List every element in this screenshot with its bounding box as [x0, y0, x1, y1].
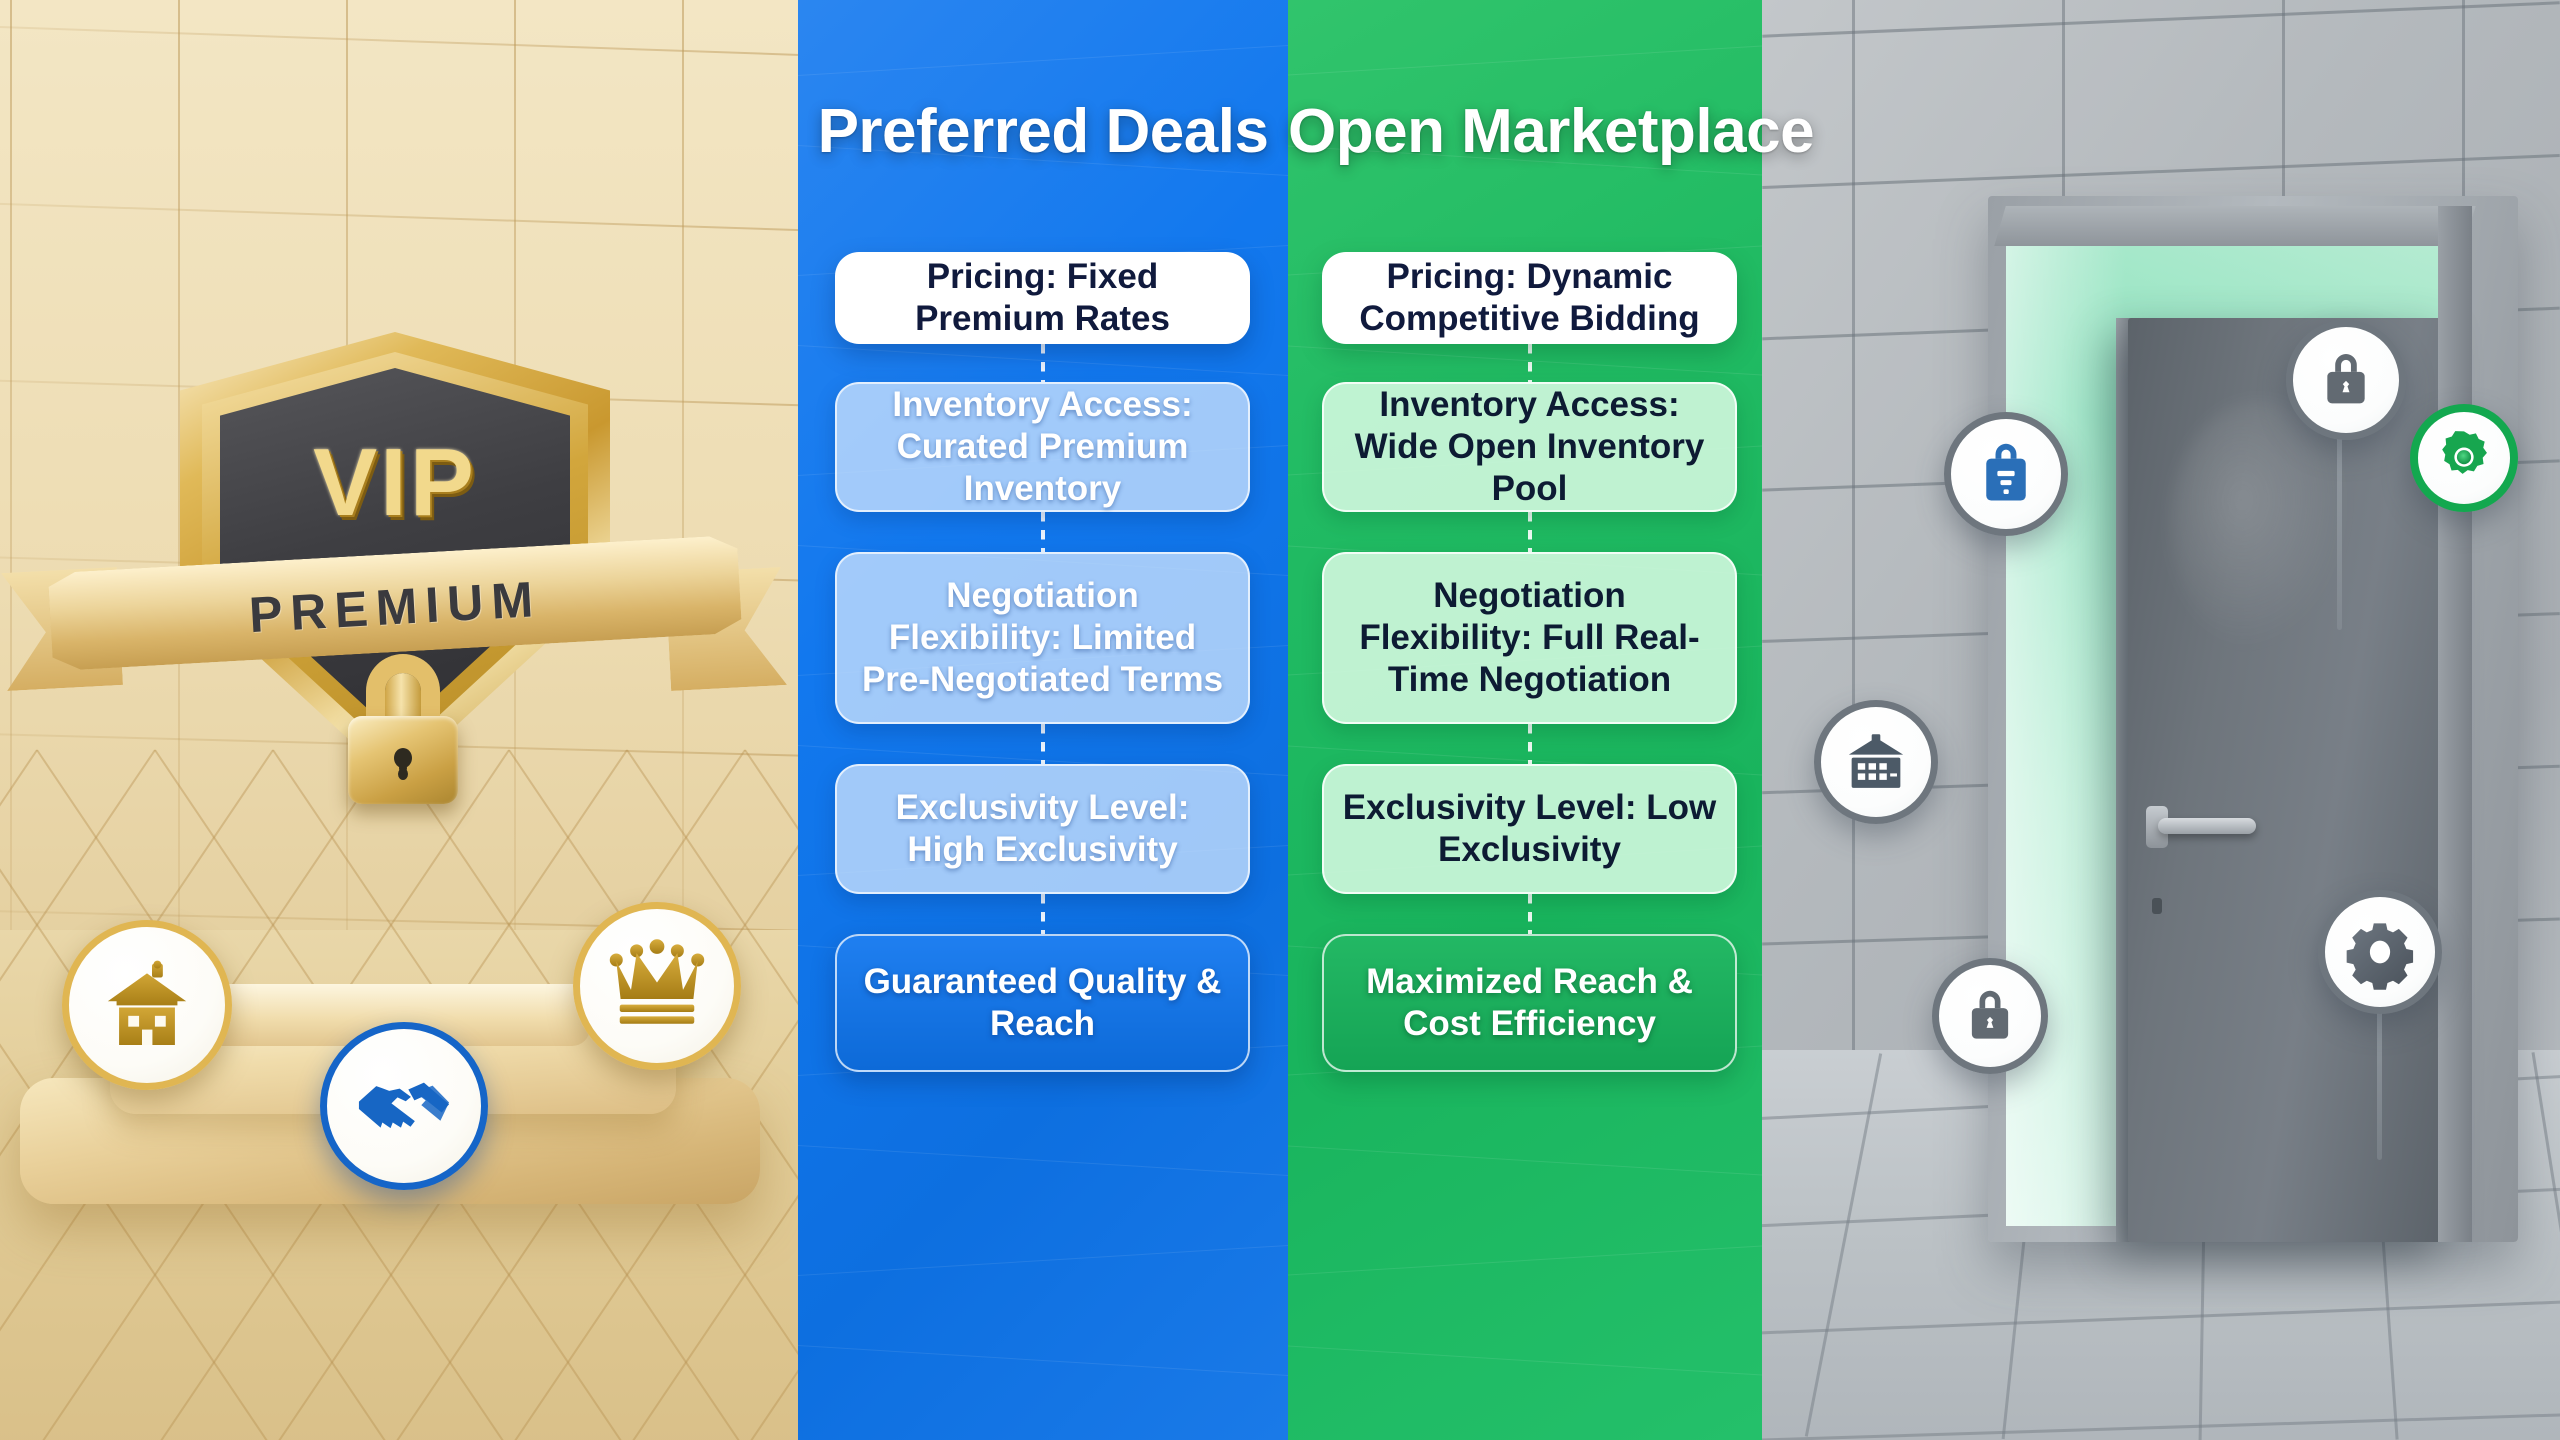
flow-card-label: Exclusivity Level: Low Exclusivity [1342, 787, 1717, 871]
panel-texture-line [1288, 1243, 1762, 1278]
handshake-icon-badge[interactable] [320, 1022, 488, 1190]
door-keyhole [2152, 898, 2162, 914]
vip-label: VIP [180, 428, 610, 538]
flow-card-open-marketplace-2[interactable]: Inventory Access: Wide Open Inventory Po… [1322, 382, 1737, 512]
house-icon [97, 955, 197, 1055]
panel-texture-line [798, 1143, 1288, 1179]
building-icon-badge[interactable] [1814, 700, 1938, 824]
flow-card-open-marketplace-4[interactable]: Exclusivity Level: Low Exclusivity [1322, 764, 1737, 894]
door-leaf[interactable] [2128, 318, 2454, 1242]
flow-card-preferred-deals-2[interactable]: Inventory Access: Curated Premium Invent… [835, 382, 1250, 512]
panel-premium-gold: VIP PREMIUM [0, 0, 800, 1440]
door-opening-highlight [2006, 216, 2126, 1226]
flow-card-label: Exclusivity Level: High Exclusivity [855, 787, 1230, 871]
flow-connector [1528, 724, 1532, 764]
tile-line [0, 24, 800, 58]
house-icon-badge[interactable] [62, 920, 232, 1090]
flow-connector [1528, 512, 1532, 552]
tile-line [10, 0, 12, 980]
gear-icon [2430, 424, 2498, 492]
flow-preferred-deals: Pricing: Fixed Premium RatesInventory Ac… [835, 252, 1250, 1072]
infographic-stage: VIP PREMIUM [0, 0, 2560, 1440]
floor-line [2532, 1052, 2560, 1438]
handshake-icon [352, 1054, 456, 1158]
flow-card-preferred-deals-4[interactable]: Exclusivity Level: High Exclusivity [835, 764, 1250, 894]
flow-card-open-marketplace-1[interactable]: Pricing: Dynamic Competitive Bidding [1322, 252, 1737, 344]
flow-card-open-marketplace-5[interactable]: Maximized Reach & Cost Efficiency [1322, 934, 1737, 1072]
lock-icon-badge-bottom[interactable] [1932, 958, 2048, 1074]
lock-icon [2311, 345, 2381, 415]
crown-icon [605, 934, 709, 1038]
floor-line [1762, 1299, 2560, 1336]
flow-card-preferred-deals-5[interactable]: Guaranteed Quality & Reach [835, 934, 1250, 1072]
flow-card-label: Inventory Access: Curated Premium Invent… [855, 384, 1230, 510]
floor-line [1805, 1053, 1882, 1436]
panel-texture-line [1288, 1143, 1762, 1178]
flow-card-label: Pricing: Dynamic Competitive Bidding [1340, 256, 1719, 340]
building-icon [1839, 725, 1913, 799]
door-gloss [2170, 400, 2350, 650]
flow-card-label: Inventory Access: Wide Open Inventory Po… [1342, 384, 1717, 510]
vip-premium-shield-badge: VIP PREMIUM [180, 332, 610, 782]
lock-icon-badge-top[interactable] [2286, 320, 2406, 440]
flow-connector [1041, 724, 1045, 764]
flow-connector [1528, 344, 1532, 382]
flow-card-label: Pricing: Fixed Premium Rates [853, 256, 1232, 340]
padlock-icon [348, 654, 458, 804]
panel-texture-line [1288, 1343, 1762, 1378]
flow-connector [1041, 512, 1045, 552]
crown-icon-badge[interactable] [573, 902, 741, 1070]
panel-texture-line [798, 1243, 1288, 1279]
flow-card-label: Guaranteed Quality & Reach [855, 961, 1230, 1045]
flow-connector [1041, 344, 1045, 382]
gear-icon-badge-green[interactable] [2410, 404, 2518, 512]
door-handle[interactable] [2158, 818, 2256, 834]
gear-icon [2342, 914, 2418, 990]
flow-card-preferred-deals-1[interactable]: Pricing: Fixed Premium Rates [835, 252, 1250, 344]
lock-bag-icon [1969, 437, 2043, 511]
flow-open-marketplace: Pricing: Dynamic Competitive BiddingInve… [1322, 252, 1737, 1072]
flow-connector [1041, 894, 1045, 934]
flow-card-label: Negotiation Flexibility: Limited Pre-Neg… [855, 575, 1230, 701]
door-lintel [1994, 206, 2475, 246]
lock-icon [1956, 982, 2024, 1050]
tile-line [0, 201, 800, 233]
flow-card-label: Maximized Reach & Cost Efficiency [1342, 961, 1717, 1045]
tile-line [1852, 0, 1855, 1100]
panel-texture-line [798, 1343, 1288, 1379]
flow-card-label: Negotiation Flexibility: Full Real-Time … [1342, 575, 1717, 701]
flow-connector [1528, 894, 1532, 934]
flow-card-preferred-deals-3[interactable]: Negotiation Flexibility: Limited Pre-Neg… [835, 552, 1250, 724]
gear-icon-badge-gray[interactable] [2318, 890, 2442, 1014]
floor-line [1762, 1412, 2560, 1440]
door-jamb-right [2438, 206, 2472, 1242]
flow-card-open-marketplace-3[interactable]: Negotiation Flexibility: Full Real-Time … [1322, 552, 1737, 724]
panel-texture-line [1288, 43, 1762, 78]
panel-texture-line [798, 43, 1288, 79]
tile-line [1762, 154, 2559, 189]
tile-line [1762, 1, 2559, 37]
lock-bag-icon-badge[interactable] [1944, 412, 2068, 536]
column-title-open-marketplace: Open Marketplace [1288, 96, 1762, 167]
column-title-preferred-deals: Preferred Deals [798, 96, 1288, 167]
